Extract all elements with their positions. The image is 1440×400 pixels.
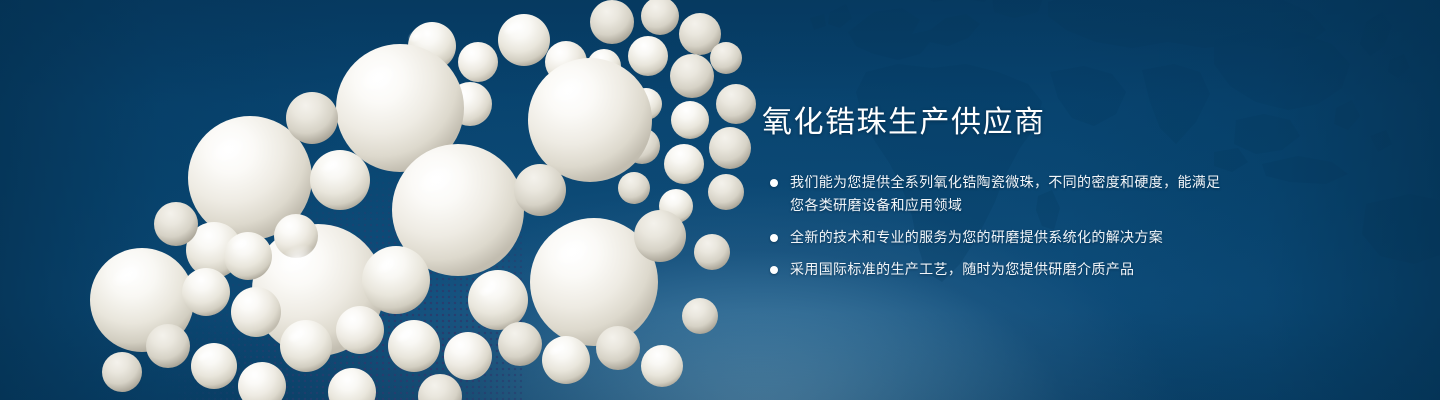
bullet-dot-icon (770, 179, 778, 187)
bullet-dot-icon (770, 234, 778, 242)
banner-copy: 氧化锆珠生产供应商 我们能为您提供全系列氧化锆陶瓷微珠，不同的密度和硬度，能满足… (762, 105, 1232, 281)
list-item: 采用国际标准的生产工艺，随时为您提供研磨介质产品 (762, 258, 1232, 281)
zirconia-beads-image (0, 0, 760, 400)
bullet-dot-icon (770, 266, 778, 274)
feature-list: 我们能为您提供全系列氧化锆陶瓷微珠，不同的密度和硬度，能满足您各类研磨设备和应用… (762, 171, 1232, 281)
list-item: 我们能为您提供全系列氧化锆陶瓷微珠，不同的密度和硬度，能满足您各类研磨设备和应用… (762, 171, 1232, 217)
list-item-label: 采用国际标准的生产工艺，随时为您提供研磨介质产品 (790, 261, 1134, 277)
page-title: 氧化锆珠生产供应商 (762, 105, 1232, 141)
list-item-label: 我们能为您提供全系列氧化锆陶瓷微珠，不同的密度和硬度，能满足您各类研磨设备和应用… (790, 174, 1221, 213)
hero-banner: 氧化锆珠生产供应商 我们能为您提供全系列氧化锆陶瓷微珠，不同的密度和硬度，能满足… (0, 0, 1440, 400)
list-item: 全新的技术和专业的服务为您的研磨提供系统化的解决方案 (762, 226, 1232, 249)
list-item-label: 全新的技术和专业的服务为您的研磨提供系统化的解决方案 (790, 229, 1163, 245)
